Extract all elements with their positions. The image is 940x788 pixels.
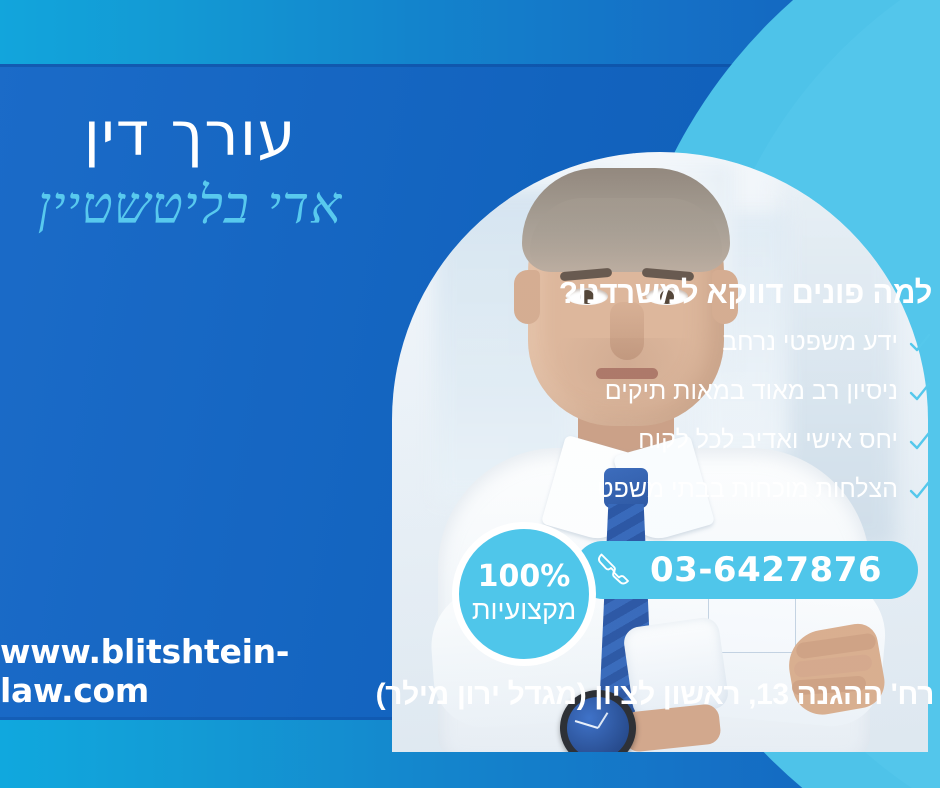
benefits-list: ידע משפטי נרחב ניסיון רב מאוד במאות תיקי… xyxy=(512,328,932,524)
badge-percent: 100% xyxy=(478,562,571,592)
section-question: למה פונים דווקא למשרדנו? xyxy=(514,275,932,311)
list-item-label: הצלחות מוכחות בבתי משפט xyxy=(597,475,898,504)
list-item-label: יחס אישי ואדיב לכל לקוח xyxy=(638,426,898,455)
list-item: ידע משפטי נרחב xyxy=(512,328,932,357)
advertisement-banner: עורך דין אדי בליטשטיין למה פונים דווקא ל… xyxy=(0,0,940,788)
office-address: רח' ההגנה 13, ראשון לציון (מגדל ירון מיל… xyxy=(234,678,934,712)
headline-lawyer-name: אדי בליטשטיין xyxy=(0,177,400,237)
headline-role: עורך דין xyxy=(0,104,400,165)
badge-label: מקצועיות xyxy=(472,596,576,626)
headline-group: עורך דין אדי בליטשטיין xyxy=(0,104,400,237)
phone-number: 03-6427876 xyxy=(650,550,882,590)
list-item: יחס אישי ואדיב לכל לקוח xyxy=(512,426,932,455)
list-item: ניסיון רב מאוד במאות תיקים xyxy=(512,377,932,406)
content-layer: עורך דין אדי בליטשטיין למה פונים דווקא ל… xyxy=(0,0,940,788)
check-icon xyxy=(908,478,932,502)
list-item: הצלחות מוכחות בבתי משפט xyxy=(512,475,932,504)
check-icon xyxy=(908,429,932,453)
phone-call-button[interactable]: 03-6427876 xyxy=(574,541,918,599)
list-item-label: ידע משפטי נרחב xyxy=(722,328,898,357)
check-icon xyxy=(908,331,932,355)
list-item-label: ניסיון רב מאוד במאות תיקים xyxy=(605,377,898,406)
professionalism-badge: 100% מקצועיות xyxy=(452,522,596,666)
phone-icon xyxy=(592,549,634,591)
check-icon xyxy=(908,380,932,404)
